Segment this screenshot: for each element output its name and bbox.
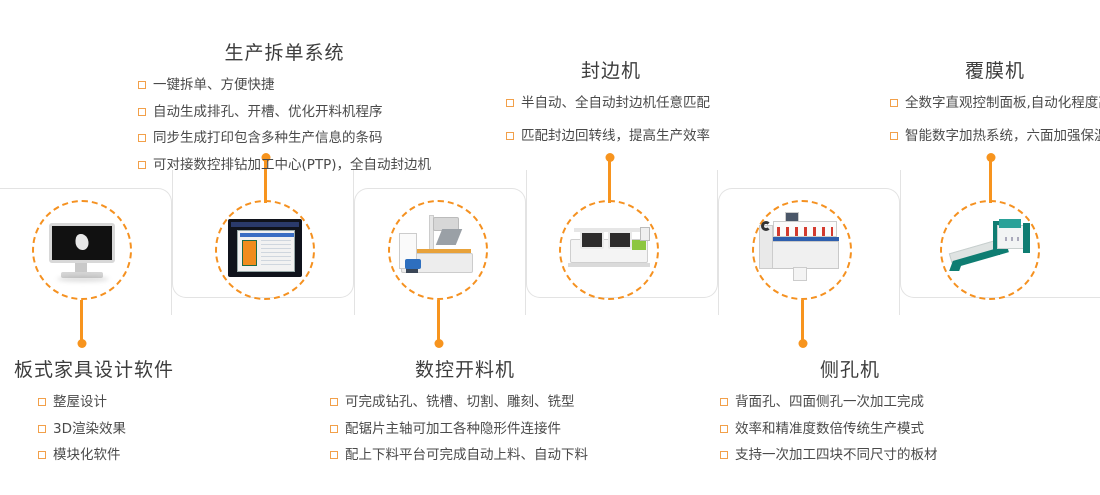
connector-edge-banding-machine bbox=[608, 157, 611, 203]
node-order-splitting-system[interactable] bbox=[215, 200, 315, 300]
checkbox-icon bbox=[506, 132, 514, 140]
block-cnc-cutting-machine: 数控开料机 可完成钻孔、铣槽、切割、雕刻、铣型 配锯片主轴可加工各种隐形件连接件… bbox=[330, 355, 600, 473]
feature-list: 一键拆单、方便快捷 自动生成排孔、开槽、优化开料机程序 同步生成打印包含多种生产… bbox=[138, 76, 431, 175]
side-hole-drilling-machine-icon bbox=[759, 207, 845, 293]
node-laminating-machine[interactable] bbox=[940, 200, 1040, 300]
process-ribbon bbox=[0, 170, 1100, 315]
feature-list: 背面孔、四面侧孔一次加工完成 效率和精准度数倍传统生产模式 支持一次加工四块不同… bbox=[720, 393, 980, 466]
checkbox-icon bbox=[330, 451, 338, 459]
list-item: 配锯片主轴可加工各种隐形件连接件 bbox=[330, 420, 600, 440]
node-cnc-cutting-machine[interactable] bbox=[388, 200, 488, 300]
checkbox-icon bbox=[138, 81, 146, 89]
block-laminating-machine: 覆膜机 全数字直观控制面板,自动化程度高 智能数字加热系统，六面加强保温 bbox=[890, 56, 1100, 153]
checkbox-icon bbox=[138, 134, 146, 142]
list-item: 同步生成打印包含多种生产信息的条码 bbox=[138, 129, 431, 149]
connector-design-software bbox=[80, 300, 83, 344]
list-item: 支持一次加工四块不同尺寸的板材 bbox=[720, 446, 980, 466]
node-edge-banding-machine[interactable] bbox=[559, 200, 659, 300]
software-window-icon bbox=[222, 207, 308, 293]
checkbox-icon bbox=[38, 398, 46, 406]
checkbox-icon bbox=[330, 398, 338, 406]
block-title: 数控开料机 bbox=[330, 355, 600, 382]
list-item: 模块化软件 bbox=[38, 446, 174, 466]
list-item: 智能数字加热系统，六面加强保温 bbox=[890, 127, 1100, 147]
block-title: 侧孔机 bbox=[720, 355, 980, 382]
list-item: 自动生成排孔、开槽、优化开料机程序 bbox=[138, 103, 431, 123]
block-title: 封边机 bbox=[506, 56, 716, 83]
edge-banding-machine-icon bbox=[566, 207, 652, 293]
block-title: 覆膜机 bbox=[890, 56, 1100, 83]
checkbox-icon bbox=[890, 132, 898, 140]
list-item: 半自动、全自动封边机任意匹配 bbox=[506, 94, 716, 114]
list-item: 效率和精准度数倍传统生产模式 bbox=[720, 420, 980, 440]
list-item: 背面孔、四面侧孔一次加工完成 bbox=[720, 393, 980, 413]
checkbox-icon bbox=[720, 425, 728, 433]
block-title: 生产拆单系统 bbox=[138, 38, 431, 65]
block-side-hole-machine: 侧孔机 背面孔、四面侧孔一次加工完成 效率和精准度数倍传统生产模式 支持一次加工… bbox=[720, 355, 980, 473]
block-title: 板式家具设计软件 bbox=[14, 355, 174, 382]
checkbox-icon bbox=[720, 398, 728, 406]
desktop-computer-icon bbox=[39, 207, 125, 293]
checkbox-icon bbox=[38, 425, 46, 433]
cnc-router-machine-icon bbox=[395, 207, 481, 293]
list-item: 配上下料平台可完成自动上料、自动下料 bbox=[330, 446, 600, 466]
list-item: 3D渲染效果 bbox=[38, 420, 174, 440]
connector-cnc-cutting-machine bbox=[437, 300, 440, 344]
list-item: 全数字直观控制面板,自动化程度高 bbox=[890, 94, 1100, 114]
list-item: 匹配封边回转线，提高生产效率 bbox=[506, 127, 716, 147]
checkbox-icon bbox=[330, 425, 338, 433]
checkbox-icon bbox=[890, 99, 898, 107]
checkbox-icon bbox=[506, 99, 514, 107]
block-order-splitting-system: 生产拆单系统 一键拆单、方便快捷 自动生成排孔、开槽、优化开料机程序 同步生成打… bbox=[138, 38, 431, 182]
feature-list: 可完成钻孔、铣槽、切割、雕刻、铣型 配锯片主轴可加工各种隐形件连接件 配上下料平… bbox=[330, 393, 600, 466]
node-design-software[interactable] bbox=[32, 200, 132, 300]
checkbox-icon bbox=[720, 451, 728, 459]
list-item: 整屋设计 bbox=[38, 393, 174, 413]
feature-list: 半自动、全自动封边机任意匹配 匹配封边回转线，提高生产效率 bbox=[506, 94, 716, 146]
list-item: 一键拆单、方便快捷 bbox=[138, 76, 431, 96]
laminating-machine-icon bbox=[947, 207, 1033, 293]
list-item: 可完成钻孔、铣槽、切割、雕刻、铣型 bbox=[330, 393, 600, 413]
feature-list: 整屋设计 3D渲染效果 模块化软件 bbox=[14, 393, 174, 466]
node-side-hole-machine[interactable] bbox=[752, 200, 852, 300]
checkbox-icon bbox=[38, 451, 46, 459]
checkbox-icon bbox=[138, 161, 146, 169]
checkbox-icon bbox=[138, 108, 146, 116]
connector-laminating-machine bbox=[989, 157, 992, 203]
production-line-flow-diagram: 生产拆单系统 一键拆单、方便快捷 自动生成排孔、开槽、优化开料机程序 同步生成打… bbox=[0, 0, 1100, 495]
block-design-software: 板式家具设计软件 整屋设计 3D渲染效果 模块化软件 bbox=[14, 355, 174, 473]
connector-side-hole-machine bbox=[801, 300, 804, 344]
feature-list: 全数字直观控制面板,自动化程度高 智能数字加热系统，六面加强保温 bbox=[890, 94, 1100, 146]
block-edge-banding-machine: 封边机 半自动、全自动封边机任意匹配 匹配封边回转线，提高生产效率 bbox=[506, 56, 716, 153]
list-item: 可对接数控排钻加工中心(PTP)，全自动封边机 bbox=[138, 156, 431, 176]
